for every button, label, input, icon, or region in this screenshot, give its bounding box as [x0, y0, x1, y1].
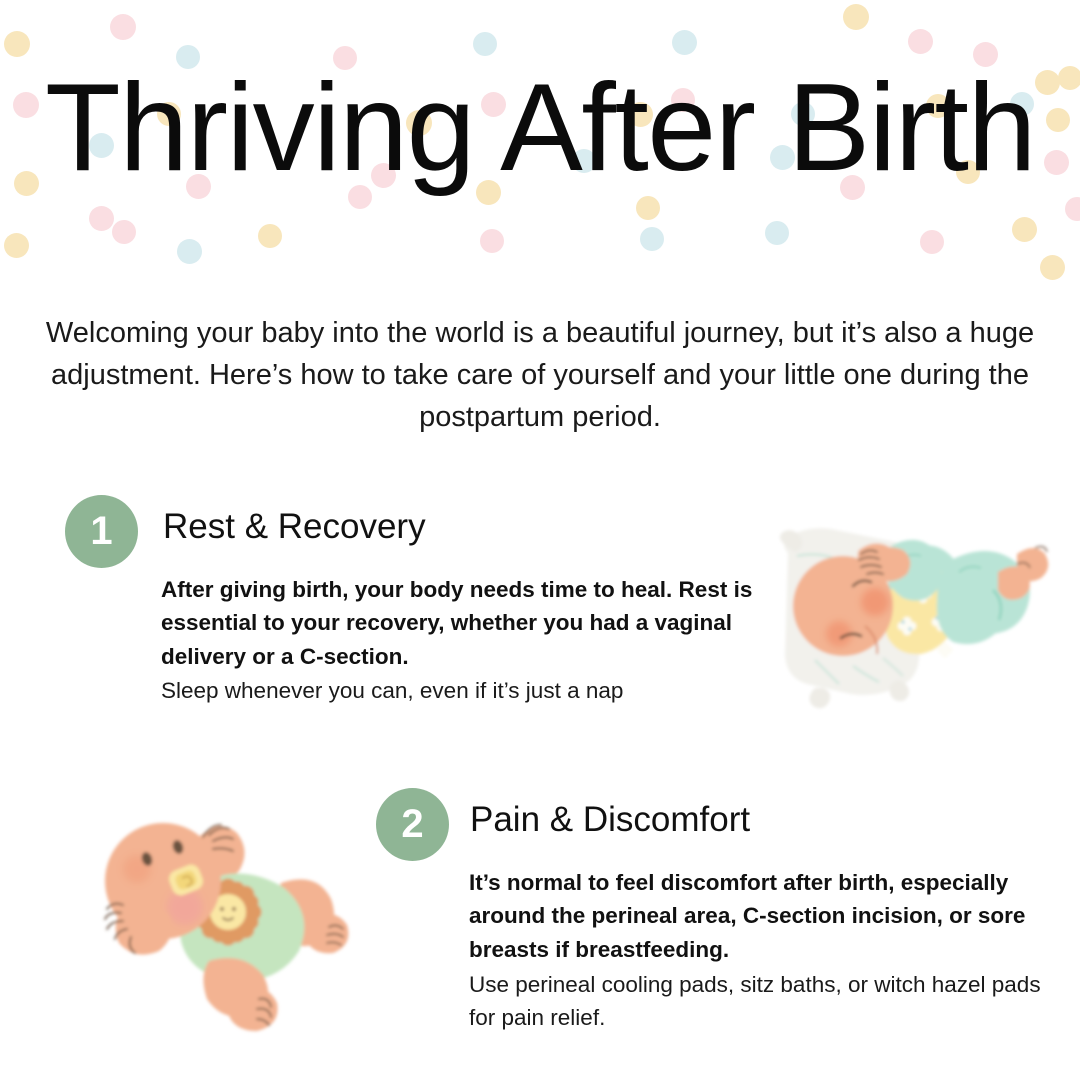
section-body-bold-2: It’s normal to feel discomfort after bir…	[469, 866, 1041, 966]
confetti-dot	[640, 227, 664, 251]
infographic-page: Thriving After Birth Welcoming your baby…	[0, 0, 1080, 1080]
step-number-badge-2: 2	[376, 788, 449, 861]
confetti-dot	[1012, 217, 1037, 242]
confetti-dot	[908, 29, 933, 54]
confetti-dot	[765, 221, 789, 245]
confetti-dot	[920, 230, 944, 254]
section-body-regular-2: Use perineal cooling pads, sitz baths, o…	[469, 968, 1041, 1035]
confetti-dot	[1040, 255, 1065, 280]
confetti-dot	[112, 220, 136, 244]
section-body-bold-1: After giving birth, your body needs time…	[161, 573, 761, 673]
step-number-2: 2	[401, 804, 423, 844]
confetti-dot	[4, 233, 29, 258]
page-title: Thriving After Birth	[0, 66, 1080, 190]
baby-in-lion-onesie-illustration	[85, 795, 375, 1045]
confetti-dot	[672, 30, 697, 55]
confetti-dot	[110, 14, 136, 40]
confetti-dot	[843, 4, 869, 30]
confetti-dot	[473, 32, 497, 56]
step-number-1: 1	[90, 511, 112, 551]
confetti-dot	[1065, 197, 1080, 221]
confetti-dot	[177, 239, 202, 264]
confetti-dot	[89, 206, 114, 231]
confetti-dot	[258, 224, 282, 248]
confetti-dot	[636, 196, 660, 220]
confetti-dot	[4, 31, 30, 57]
section-heading-1: Rest & Recovery	[163, 508, 426, 547]
step-number-badge-1: 1	[65, 495, 138, 568]
section-heading-2: Pain & Discomfort	[470, 801, 750, 840]
intro-paragraph: Welcoming your baby into the world is a …	[20, 313, 1060, 438]
confetti-dot	[480, 229, 504, 253]
section-body-regular-1: Sleep whenever you can, even if it’s jus…	[161, 674, 761, 707]
sleeping-baby-on-pillow-illustration	[755, 498, 1080, 733]
